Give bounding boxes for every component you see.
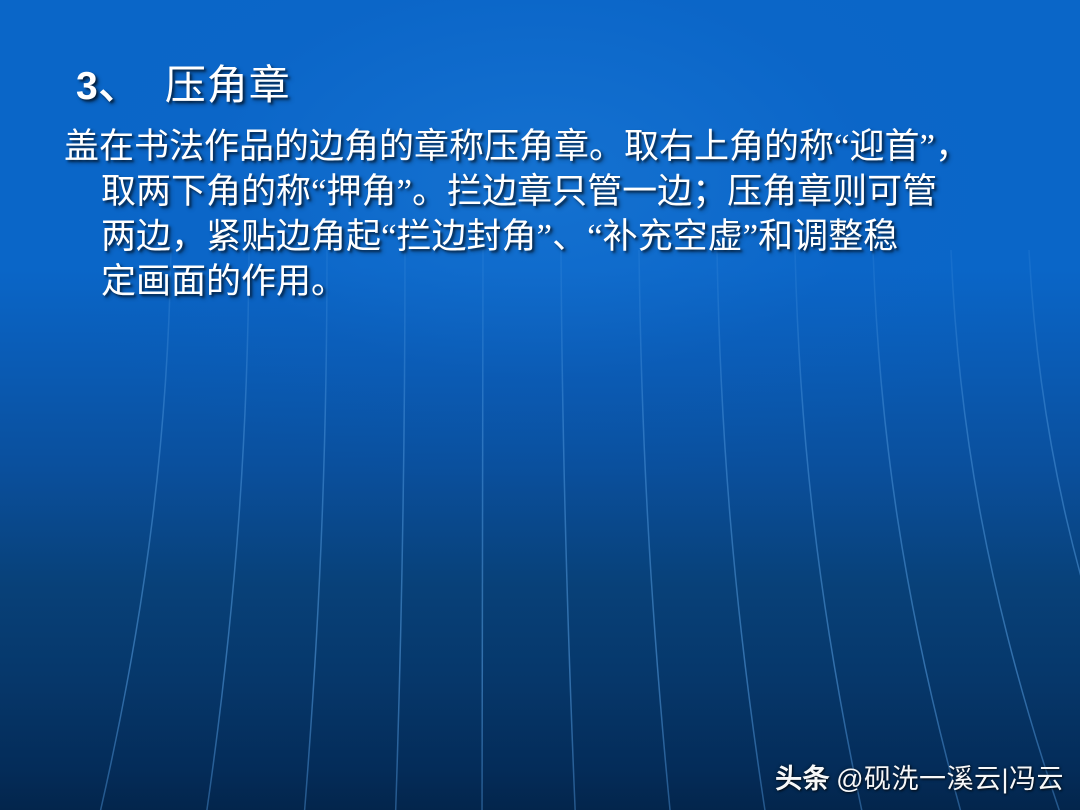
title-number: 3、: [76, 65, 139, 108]
watermark: 头条@砚洗一溪云|冯云: [775, 757, 1064, 796]
body-line: 定画面的作用。: [64, 259, 1024, 304]
body-line: 盖在书法作品的边角的章称压角章。取右上角的称“迎首”，: [64, 124, 1024, 169]
slide-content: 3、压角章 盖在书法作品的边角的章称压角章。取右上角的称“迎首”， 取两下角的称…: [0, 0, 1080, 810]
watermark-brand: 头条: [775, 764, 830, 794]
body-paragraph: 盖在书法作品的边角的章称压角章。取右上角的称“迎首”， 取两下角的称“押角”。拦…: [64, 124, 1024, 304]
presentation-slide: 3、压角章 盖在书法作品的边角的章称压角章。取右上角的称“迎首”， 取两下角的称…: [0, 0, 1080, 810]
page-title: 3、压角章: [76, 62, 291, 110]
body-line: 取两下角的称“押角”。拦边章只管一边；压角章则可管: [64, 169, 1024, 214]
body-line: 两边，紧贴边角起“拦边封角”、“补充空虚”和调整稳: [64, 214, 1024, 259]
watermark-handle: @砚洗一溪云|冯云: [836, 764, 1064, 794]
title-heading: 压角章: [165, 62, 291, 108]
